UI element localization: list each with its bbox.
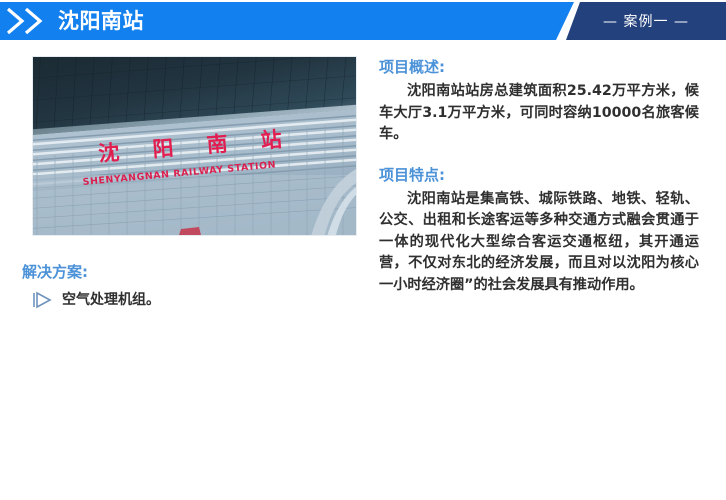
station-photo: 沈 阳 南 站 SHENYANGNAN RAILWAY STATION — [33, 57, 356, 235]
solution-block: 解决方案: 空气处理机组。 — [22, 262, 352, 309]
page-title: 沈阳南站 — [58, 9, 144, 34]
list-item: 空气处理机组。 — [22, 291, 352, 309]
section-features: 项目特点: 沈阳南站是集高铁、城际铁路、地铁、轻轨、公交、出租和长途客运等多种交… — [379, 164, 699, 297]
section-overview: 项目概述: 沈阳南站站房总建筑面积25.42万平方米，候车大厅3.1万平方米，可… — [379, 56, 699, 146]
overview-body: 沈阳南站站房总建筑面积25.42万平方米，候车大厅3.1万平方米，可同时容纳10… — [379, 81, 699, 146]
solution-item-label: 空气处理机组。 — [62, 291, 160, 309]
case-badge: — 案例一 — — [566, 2, 726, 40]
header-bar: 沈阳南站 — 案例一 — — [0, 2, 726, 40]
solution-heading: 解决方案: — [22, 262, 352, 282]
station-photo-image: 沈 阳 南 站 SHENYANGNAN RAILWAY STATION — [33, 57, 356, 235]
details-column: 项目概述: 沈阳南站站房总建筑面积25.42万平方米，候车大厅3.1万平方米，可… — [379, 56, 699, 296]
features-body: 沈阳南站是集高铁、城际铁路、地铁、轻轨、公交、出租和长途客运等多种交通方式融会贯… — [379, 189, 699, 297]
double-chevron-right-icon-second — [20, 2, 50, 40]
play-triangle-outline-icon — [31, 291, 53, 309]
overview-heading: 项目概述: — [379, 56, 699, 78]
features-heading: 项目特点: — [379, 164, 699, 186]
